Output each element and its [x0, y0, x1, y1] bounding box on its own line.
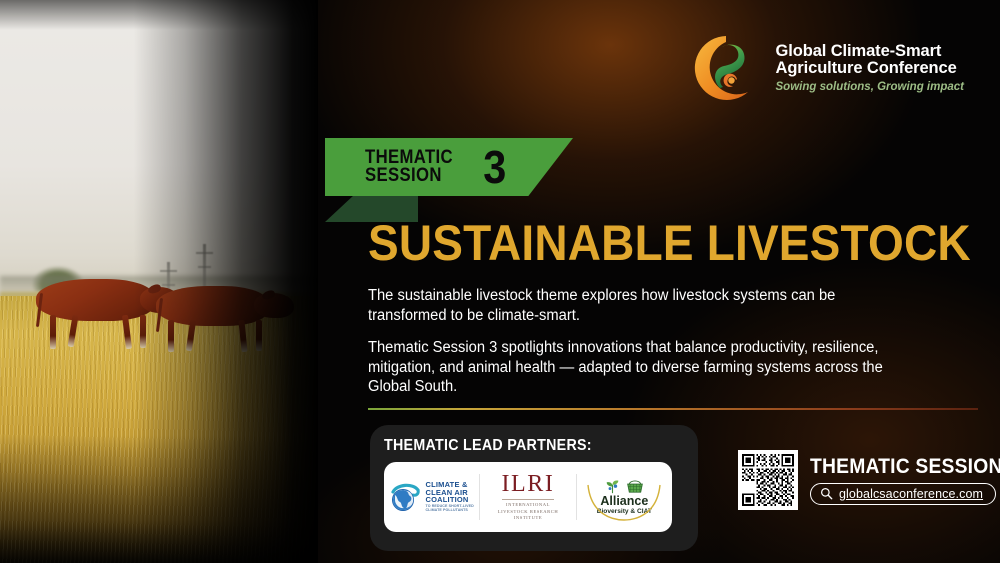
banner-session-number: 3: [483, 149, 506, 186]
ccac-line3: COALITION: [425, 496, 473, 504]
page-title: SUSTAINABLE LIVESTOCK: [368, 214, 971, 272]
magnifier-icon: [820, 487, 833, 500]
partner-logo-ilri[interactable]: ILRI INTERNATIONAL LIVESTOCK RESEARCH IN…: [480, 462, 575, 532]
ilri-sub1: INTERNATIONAL: [498, 502, 558, 509]
qr-code-icon[interactable]: [738, 450, 798, 510]
logo-title-line2: Agriculture Conference: [776, 60, 964, 77]
partners-title: THEMATIC LEAD PARTNERS:: [384, 437, 660, 455]
qr-title: THEMATIC SESSION 3: [810, 456, 1000, 477]
alliance-arc-icon: [585, 475, 663, 521]
ccac-sub2: CLIMATE POLLUTANTS: [425, 509, 473, 513]
partner-logo-alliance[interactable]: Alliance Bioversity & CIAT: [577, 462, 672, 532]
slide-canvas: Global Climate-Smart Agriculture Confere…: [0, 0, 1000, 563]
logo-tagline: Sowing solutions, Growing impact: [776, 81, 964, 93]
section-divider: [368, 408, 978, 410]
thematic-session-banner: THEMATIC SESSION 3: [325, 138, 573, 196]
hero-photo: [0, 0, 318, 563]
ilri-rule: [502, 499, 554, 500]
website-url[interactable]: globalcsaconference.com: [839, 487, 983, 501]
partners-panel: THEMATIC LEAD PARTNERS:: [370, 425, 698, 551]
ilri-sub2: LIVESTOCK RESEARCH: [498, 509, 558, 516]
gcsa-conference-logo-icon: [690, 32, 762, 104]
ilri-acronym: ILRI: [498, 472, 558, 496]
conference-logo: Global Climate-Smart Agriculture Confere…: [690, 32, 964, 104]
banner-line2: SESSION: [365, 167, 453, 185]
partner-logo-ccac[interactable]: CLIMATE & CLEAN AIR COALITION TO REDUCE …: [384, 462, 479, 532]
qr-cta-block: THEMATIC SESSION 3 globalcsaconference.c…: [738, 450, 1000, 510]
logo-title-line1: Global Climate-Smart: [776, 43, 964, 60]
partners-logo-card: CLIMATE & CLEAN AIR COALITION TO REDUCE …: [384, 462, 672, 532]
globe-icon: [389, 481, 421, 513]
website-pill[interactable]: globalcsaconference.com: [810, 483, 996, 505]
photo-right-fade: [0, 0, 318, 563]
ilri-sub3: INSTITUTE: [498, 515, 558, 522]
description-paragraph-2: Thematic Session 3 spotlights innovation…: [368, 338, 929, 397]
description-paragraph-1: The sustainable livestock theme explores…: [368, 286, 900, 325]
